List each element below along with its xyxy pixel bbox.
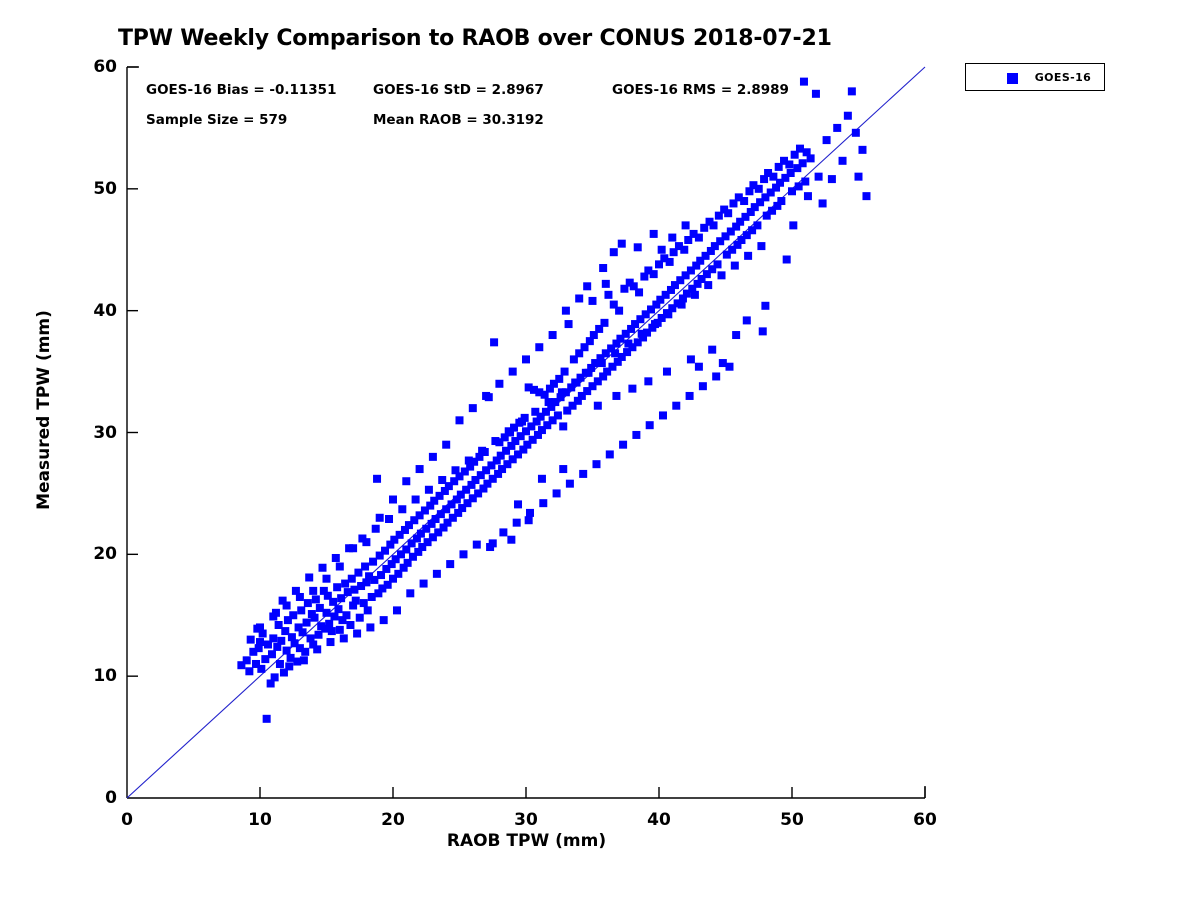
stat-bias: GOES-16 Bias = -0.11351 bbox=[146, 82, 336, 98]
y-tick-label: 0 bbox=[71, 788, 117, 808]
y-axis-label: Measured TPW (mm) bbox=[34, 160, 54, 660]
x-axis-label: RAOB TPW (mm) bbox=[0, 831, 1053, 851]
stat-mean-raob: Mean RAOB = 30.3192 bbox=[373, 112, 544, 128]
plot-area bbox=[127, 67, 925, 798]
chart-title: TPW Weekly Comparison to RAOB over CONUS… bbox=[118, 26, 832, 51]
y-tick-label: 20 bbox=[71, 544, 117, 564]
x-tick-label: 60 bbox=[902, 810, 948, 830]
chart-figure: TPW Weekly Comparison to RAOB over CONUS… bbox=[0, 0, 1200, 900]
y-tick-label: 40 bbox=[71, 301, 117, 321]
x-tick-label: 40 bbox=[636, 810, 682, 830]
legend-label-goes-16: GOES-16 bbox=[1026, 71, 1100, 84]
y-tick-label: 10 bbox=[71, 666, 117, 686]
x-tick-label: 30 bbox=[503, 810, 549, 830]
x-tick-label: 20 bbox=[370, 810, 416, 830]
legend[interactable]: GOES-16 bbox=[965, 63, 1105, 91]
x-tick-label: 50 bbox=[769, 810, 815, 830]
legend-swatch-goes-16 bbox=[1007, 73, 1018, 84]
y-tick-label: 50 bbox=[71, 179, 117, 199]
y-tick-label: 30 bbox=[71, 423, 117, 443]
stat-std: GOES-16 StD = 2.8967 bbox=[373, 82, 544, 98]
x-tick-label: 10 bbox=[237, 810, 283, 830]
x-tick-label: 0 bbox=[104, 810, 150, 830]
stat-rms: GOES-16 RMS = 2.8989 bbox=[612, 82, 789, 98]
stat-sample-size: Sample Size = 579 bbox=[146, 112, 287, 128]
y-tick-label: 60 bbox=[71, 57, 117, 77]
